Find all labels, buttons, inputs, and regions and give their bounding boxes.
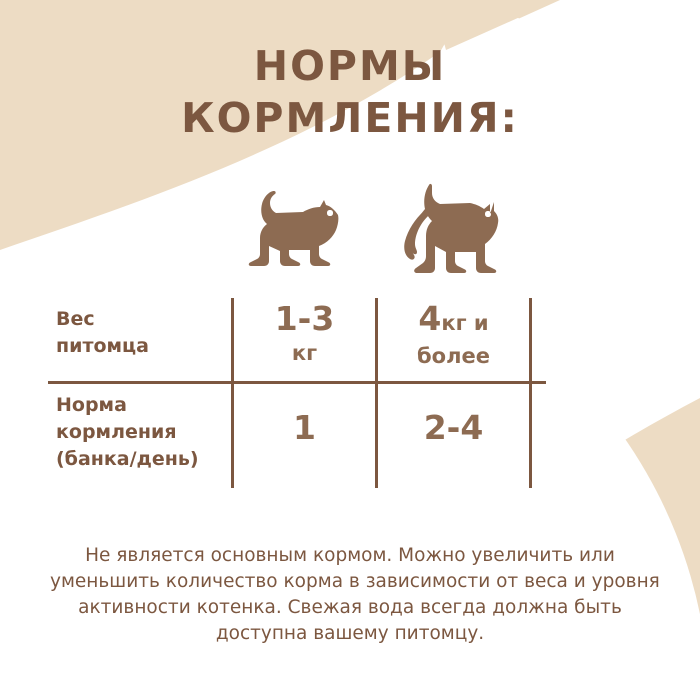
ration-col2-value: 2-4 bbox=[378, 409, 529, 446]
feeding-guide-page: НОРМЫ КОРМЛЕНИЯ: Вес питомца 1-3 кг 4кг … bbox=[0, 0, 700, 700]
page-title-line-2: КОРМЛЕНИЯ: bbox=[0, 92, 700, 144]
table-row-label-ration: Норма кормления (банка/день) bbox=[56, 392, 231, 473]
ration-label-line-2: кормления bbox=[56, 419, 231, 446]
weight-label-line-2: питомца bbox=[56, 333, 226, 360]
footer-note-line-2: уменьшить количество корма в зависимости… bbox=[50, 569, 650, 595]
cat-silhouettes bbox=[232, 178, 546, 290]
footer-note-line-4: доступна вашему питомцу. bbox=[50, 621, 650, 647]
footer-note-line-3: активности котенка. Свежая вода всегда д… bbox=[50, 595, 650, 621]
footer-note-line-1: Не является основным кормом. Можно увели… bbox=[50, 543, 650, 569]
ration-label-line-3: (банка/день) bbox=[56, 446, 231, 473]
ration-label-line-1: Норма bbox=[56, 392, 231, 419]
weight-col2-big: 4 bbox=[418, 299, 441, 338]
weight-label-line-1: Вес bbox=[56, 306, 226, 333]
weight-col1-big: 1-3 bbox=[234, 300, 375, 337]
weight-col2-line-2: более bbox=[378, 340, 529, 373]
feeding-table: Вес питомца 1-3 кг 4кг и более Норма кор… bbox=[48, 292, 546, 488]
page-title: НОРМЫ КОРМЛЕНИЯ: bbox=[0, 40, 700, 144]
ration-col1-value: 1 bbox=[234, 409, 375, 446]
kitten-silhouette-icon bbox=[242, 190, 352, 286]
table-cell-weight-col1: 1-3 кг bbox=[234, 300, 375, 370]
table-column-divider-3 bbox=[529, 298, 532, 488]
adult-cat-silhouette-icon bbox=[384, 178, 512, 290]
table-cell-ration-col2: 2-4 bbox=[378, 409, 529, 446]
weight-col1-unit: кг bbox=[292, 341, 317, 365]
footer-note: Не является основным кормом. Можно увели… bbox=[50, 543, 650, 647]
page-title-line-1: НОРМЫ bbox=[0, 40, 700, 92]
table-row-divider bbox=[48, 381, 546, 384]
weight-col2-unit: кг и bbox=[441, 311, 488, 335]
table-cell-ration-col1: 1 bbox=[234, 409, 375, 446]
table-cell-weight-col2: 4кг и более bbox=[378, 300, 529, 373]
table-row-label-weight: Вес питомца bbox=[56, 306, 226, 360]
